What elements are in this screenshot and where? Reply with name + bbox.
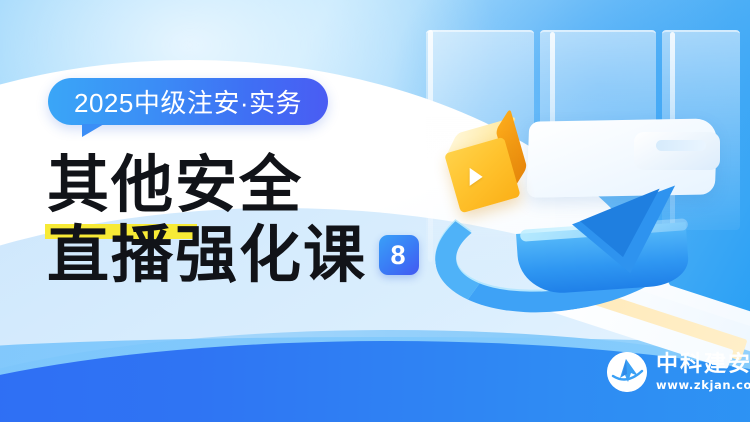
course-tag-pill: 2025中级注安·实务 [48,78,328,125]
headline-line-1: 其他安全 [47,150,467,220]
headline-line-2-text: 直播强化课 [47,220,367,290]
headline-block: 其他安全 直播强化课 8 [47,150,467,290]
episode-badge: 8 [379,235,419,275]
brand-logo: 中科建安 www.zkjan.com [607,352,750,392]
folder-slot-icon [656,140,706,151]
play-triangle-icon [470,168,483,186]
brand-text-block: 中科建安 www.zkjan.com [656,353,750,392]
course-tag: 2025中级注安·实务 [48,78,328,125]
headline-line-2: 直播强化课 8 [47,220,467,290]
course-banner: 2025中级注安·实务 其他安全 直播强化课 8 中科建安 www.zkjan.… [0,0,750,422]
speech-bubble-tail-icon [82,124,104,137]
brand-url: www.zkjan.com [656,379,750,392]
course-tag-label: 2025中级注安·实务 [74,83,302,120]
brand-name: 中科建安 [656,353,750,377]
zkjan-circle-logo-icon [607,352,647,392]
